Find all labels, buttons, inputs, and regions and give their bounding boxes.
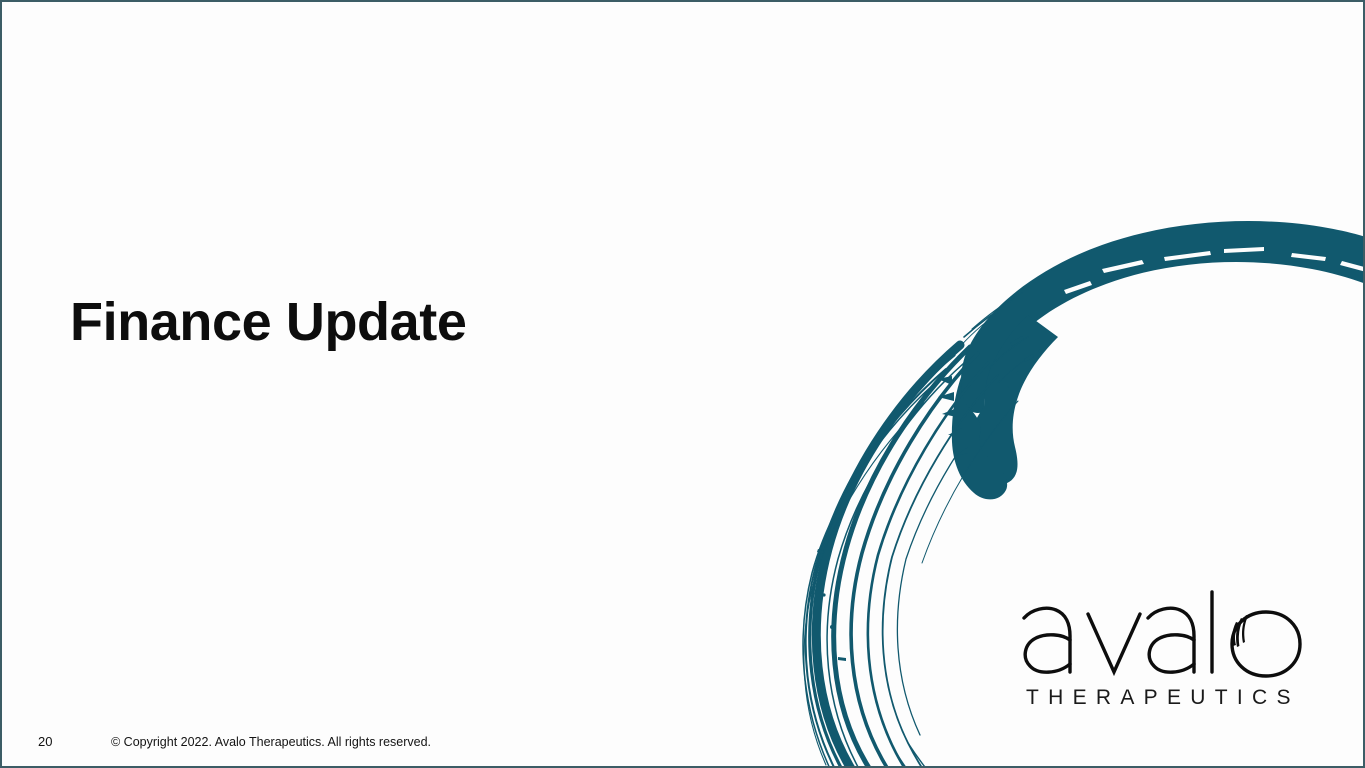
page-title: Finance Update: [70, 292, 466, 352]
avalo-wordmark-icon: [1014, 588, 1306, 684]
presentation-slide: Finance Update: [0, 0, 1365, 768]
avalo-tagline: THERAPEUTICS: [1026, 686, 1300, 710]
page-number: 20: [38, 732, 52, 752]
copyright-notice: © Copyright 2022. Avalo Therapeutics. Al…: [111, 732, 431, 752]
avalo-logo: THERAPEUTICS: [1014, 588, 1306, 720]
slide-footer: 20 © Copyright 2022. Avalo Therapeutics.…: [2, 732, 1363, 752]
